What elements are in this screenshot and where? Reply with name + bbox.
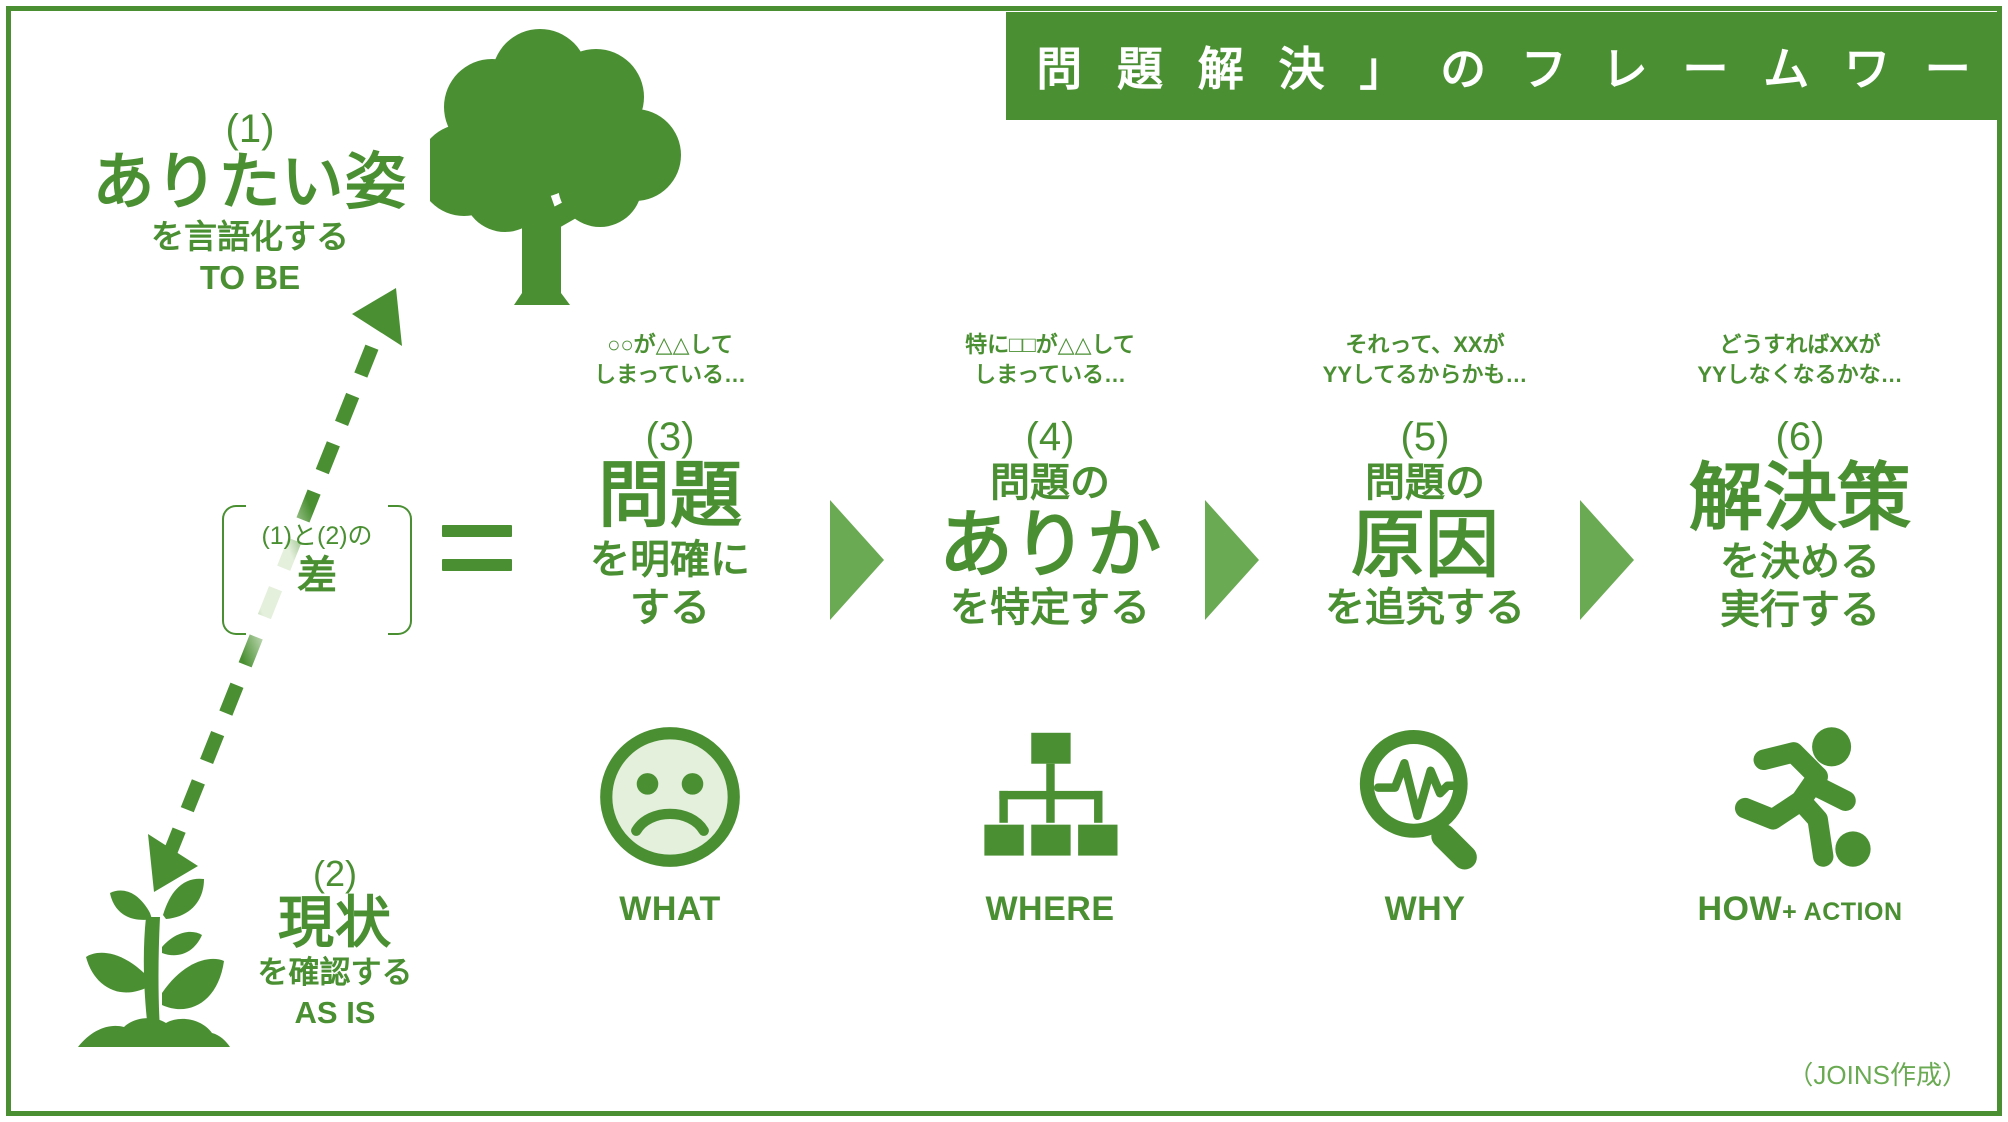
step-6-keyword: 解決策 (1650, 460, 1950, 535)
step-4-where: 特に□□が△△して しまっている… (4) 問題の ありか を特定する (900, 330, 1200, 632)
step-6-caption: どうすればXXが YYしなくなるかな… (1650, 330, 1950, 392)
step-3-sub-line1: を明確に (520, 537, 820, 584)
tree-icon (430, 25, 690, 315)
step-5-caption-line1: それって、XXが (1275, 330, 1575, 360)
gap-line1: (1)と(2)の (240, 521, 394, 551)
step-4-number: (4) (900, 416, 1200, 458)
step-5-caption: それって、XXが YYしてるからかも… (1275, 330, 1575, 392)
step-5-number: (5) (1275, 416, 1575, 458)
infographic-page: 「 問 題 解 決 」 の フ レ ー ム ワ ー ク (1) ありたい姿 (0, 0, 2008, 1122)
flow-arrow-3-icon (1580, 500, 1634, 620)
step-4-sub-line1: を特定する (900, 585, 1200, 632)
magnifier-pulse-icon (1275, 712, 1575, 882)
why-label: WHY (1275, 890, 1575, 929)
step-3-caption-line1: ○○が△△して (520, 330, 820, 360)
flow-arrow-2-icon (1205, 500, 1259, 620)
step-4-prefix: 問題の (900, 460, 1200, 507)
step-4-keyword: ありか (900, 507, 1200, 582)
header-band: 「 問 題 解 決 」 の フ レ ー ム ワ ー ク (1006, 12, 2002, 120)
page-title: 「 問 題 解 決 」 の フ レ ー ム ワ ー ク (945, 33, 2008, 99)
step-4-caption-line2: しまっている… (900, 360, 1200, 390)
to-be-number: (1) (60, 108, 440, 150)
step-4-caption: 特に□□が△△して しまっている… (900, 330, 1200, 392)
how-icon-column: HOW+ ACTION (1650, 712, 1950, 929)
to-be-title: ありたい姿 (60, 150, 440, 216)
gap-line2: 差 (240, 553, 394, 599)
where-label-text: WHERE (985, 890, 1114, 928)
how-label-text: HOW (1697, 890, 1782, 928)
step-6-caption-line2: YYしなくなるかな… (1650, 360, 1950, 390)
org-chart-icon (900, 712, 1200, 882)
equals-sign (442, 525, 512, 571)
step-6-number: (6) (1650, 416, 1950, 458)
why-icon-column: WHY (1275, 712, 1575, 929)
running-person-icon (1650, 712, 1950, 882)
step-5-prefix: 問題の (1275, 460, 1575, 507)
step-5-sub-line1: を追究する (1275, 585, 1575, 632)
step-5-why: それって、XXが YYしてるからかも… (5) 問題の 原因 を追究する (1275, 330, 1575, 632)
credit-text: （JOINS作成） (1787, 1055, 1968, 1092)
step-5-caption-line2: YYしてるからかも… (1275, 360, 1575, 390)
where-icon-column: WHERE (900, 712, 1200, 929)
where-label: WHERE (900, 890, 1200, 929)
why-label-text: WHY (1385, 890, 1466, 928)
step-3-number: (3) (520, 416, 820, 458)
gap-bracket: (1)と(2)の 差 (222, 505, 412, 635)
step-3-keyword: 問題 (520, 460, 820, 533)
step-3-caption-line2: しまっている… (520, 360, 820, 390)
flow-arrow-1-icon (830, 500, 884, 620)
step-3-caption: ○○が△△して しまっている… (520, 330, 820, 392)
equals-bar-top (442, 525, 512, 537)
equals-bar-bottom (442, 559, 512, 571)
what-label: WHAT (520, 890, 820, 929)
to-be-subtitle: を言語化する (60, 216, 440, 257)
what-label-text: WHAT (619, 890, 720, 928)
what-icon-column: WHAT (520, 712, 820, 929)
step-4-caption-line1: 特に□□が△△して (900, 330, 1200, 360)
step-6-how: どうすればXXが YYしなくなるかな… (6) 解決策 を決める 実行する (1650, 330, 1950, 634)
step-5-keyword: 原因 (1275, 507, 1575, 582)
step-6-sub-line2: 実行する (1650, 587, 1950, 634)
to-be-block: (1) ありたい姿 を言語化する TO BE (60, 108, 440, 298)
step-3-what: ○○が△△して しまっている… (3) 問題 を明確に する (520, 330, 820, 632)
how-label-suffix: + ACTION (1782, 898, 1902, 926)
step-3-sub-line2: する (520, 585, 820, 632)
step-6-sub-line1: を決める (1650, 539, 1950, 586)
how-label: HOW+ ACTION (1650, 890, 1950, 929)
step-6-caption-line1: どうすればXXが (1650, 330, 1950, 360)
sad-face-icon (520, 712, 820, 882)
